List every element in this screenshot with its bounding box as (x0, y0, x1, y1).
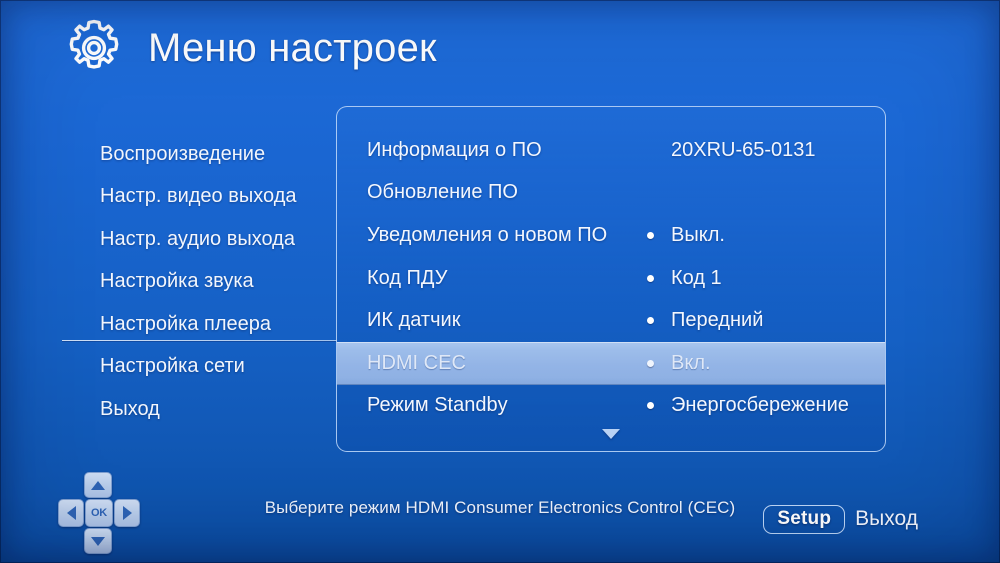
settings-row-new-software-notifications[interactable]: Уведомления о новом ПО Выкл. (337, 214, 885, 257)
bullet-icon (647, 317, 654, 324)
sidebar-item-video-output[interactable]: Настр. видео выхода (100, 176, 340, 219)
settings-row-list: Информация о ПО 20XRU-65-0131 Обновление… (337, 129, 885, 427)
arrow-down-icon[interactable] (84, 528, 112, 554)
arrow-up-icon[interactable] (84, 472, 112, 498)
settings-menu-screen: Меню настроек Воспроизведение Настр. вид… (0, 0, 1000, 563)
settings-row-label: Обновление ПО (367, 181, 518, 204)
sidebar-item-playback[interactable]: Воспроизведение (100, 133, 340, 176)
settings-panel: Информация о ПО 20XRU-65-0131 Обновление… (336, 106, 886, 452)
settings-row-label: ИК датчик (367, 309, 460, 332)
exit-label: Выход (855, 507, 918, 531)
bullet-icon (647, 232, 654, 239)
sidebar-item-label: Выход (100, 398, 160, 421)
settings-row-value: Передний (671, 309, 763, 332)
settings-row-label: Уведомления о новом ПО (367, 224, 607, 247)
sidebar-item-label: Воспроизведение (100, 143, 265, 166)
settings-row-value: Энергосбережение (671, 394, 849, 417)
settings-row-ir-sensor[interactable]: ИК датчик Передний (337, 299, 885, 342)
sidebar-item-label: Настр. видео выхода (100, 185, 296, 208)
settings-row-remote-code[interactable]: Код ПДУ Код 1 (337, 257, 885, 300)
sidebar-item-label: Настройка плеера (100, 313, 271, 336)
sidebar: Воспроизведение Настр. видео выхода Наст… (100, 133, 340, 431)
sidebar-item-label: Настройка звука (100, 270, 254, 293)
settings-row-label: Информация о ПО (367, 139, 542, 162)
sidebar-item-label: Настр. аудио выхода (100, 228, 295, 251)
sidebar-item-label: Настройка сети (100, 355, 245, 378)
sidebar-item-sound-setup[interactable]: Настройка звука (100, 261, 340, 304)
settings-row-hdmi-cec[interactable]: HDMI CEC Вкл. (337, 342, 885, 385)
settings-row-software-info[interactable]: Информация о ПО 20XRU-65-0131 (337, 129, 885, 172)
sidebar-divider (62, 340, 337, 341)
settings-row-label: Режим Standby (367, 394, 508, 417)
settings-row-value: Код 1 (671, 267, 722, 290)
chevron-down-icon[interactable] (337, 429, 885, 439)
settings-row-label: Код ПДУ (367, 267, 447, 290)
exit-hint-group: Setup Выход (763, 505, 918, 534)
bullet-icon (647, 402, 654, 409)
sidebar-item-network-setup[interactable]: Настройка сети (100, 346, 340, 389)
sidebar-item-audio-output[interactable]: Настр. аудио выхода (100, 218, 340, 261)
settings-row-value: Вкл. (671, 352, 711, 375)
settings-row-value: 20XRU-65-0131 (671, 139, 816, 162)
header: Меню настроек (62, 16, 437, 80)
settings-row-standby-mode[interactable]: Режим Standby Энергосбережение (337, 385, 885, 428)
bullet-icon (647, 275, 654, 282)
setup-button[interactable]: Setup (763, 505, 845, 534)
sidebar-item-exit[interactable]: Выход (100, 388, 340, 431)
page-title: Меню настроек (148, 26, 437, 71)
settings-row-value: Выкл. (671, 224, 725, 247)
settings-row-software-update[interactable]: Обновление ПО (337, 172, 885, 215)
bullet-icon (647, 360, 654, 367)
settings-row-label: HDMI CEC (367, 352, 466, 375)
gear-icon (62, 16, 126, 80)
